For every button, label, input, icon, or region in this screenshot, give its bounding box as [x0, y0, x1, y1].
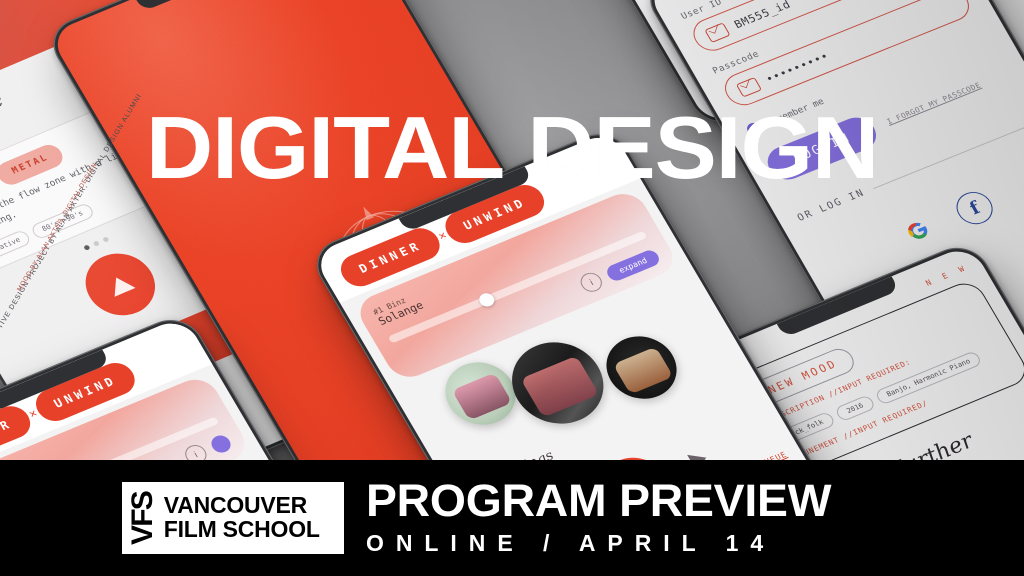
vfs-wordmark: VANCOUVER FILM SCHOOL [164, 494, 320, 542]
info-icon[interactable]: i [181, 442, 210, 460]
banner-title: PROGRAM PREVIEW [366, 479, 831, 523]
phone-mockup-scene: ✕ Welcome, Benji! Let's set the mood MEN… [0, 0, 1024, 460]
envelope-icon [704, 22, 730, 43]
poster-root: ✕ Welcome, Benji! Let's set the mood MEN… [0, 0, 1024, 576]
banner-text-block: PROGRAM PREVIEW ONLINE / APRIL 14 [366, 479, 818, 556]
shuffle-icon[interactable] [208, 433, 234, 455]
vfs-monogram: VFS [130, 492, 156, 545]
album-art[interactable] [496, 329, 620, 436]
next-icon[interactable] [687, 449, 711, 460]
mood-tag[interactable]: 2016 [834, 394, 877, 422]
page-title: DIGITAL DESIGN [0, 104, 1024, 192]
bottom-banner: VFS VANCOUVER FILM SCHOOL PROGRAM PREVIE… [0, 460, 1024, 576]
play-button[interactable] [73, 244, 167, 326]
vfs-logo: VFS VANCOUVER FILM SCHOOL [122, 482, 344, 554]
envelope-icon [736, 77, 762, 98]
mini-tag[interactable]: Alternative [0, 229, 33, 269]
add-to-queue-link[interactable]: ADD TO QUEUE [721, 450, 788, 460]
slider-knob[interactable] [477, 291, 497, 308]
vfs-line-2: FILM SCHOOL [164, 518, 320, 542]
userid-value: BM555_id [732, 0, 793, 31]
expand-button[interactable]: expand [604, 248, 662, 283]
banner-subtitle: ONLINE / APRIL 14 [366, 530, 818, 557]
triangle-icon [105, 273, 135, 297]
vfs-line-1: VANCOUVER [164, 494, 320, 518]
passcode-value: ••••••••• [763, 49, 831, 85]
google-icon[interactable] [894, 210, 943, 252]
facebook-icon[interactable]: f [950, 187, 999, 229]
info-icon[interactable]: i [577, 270, 606, 295]
